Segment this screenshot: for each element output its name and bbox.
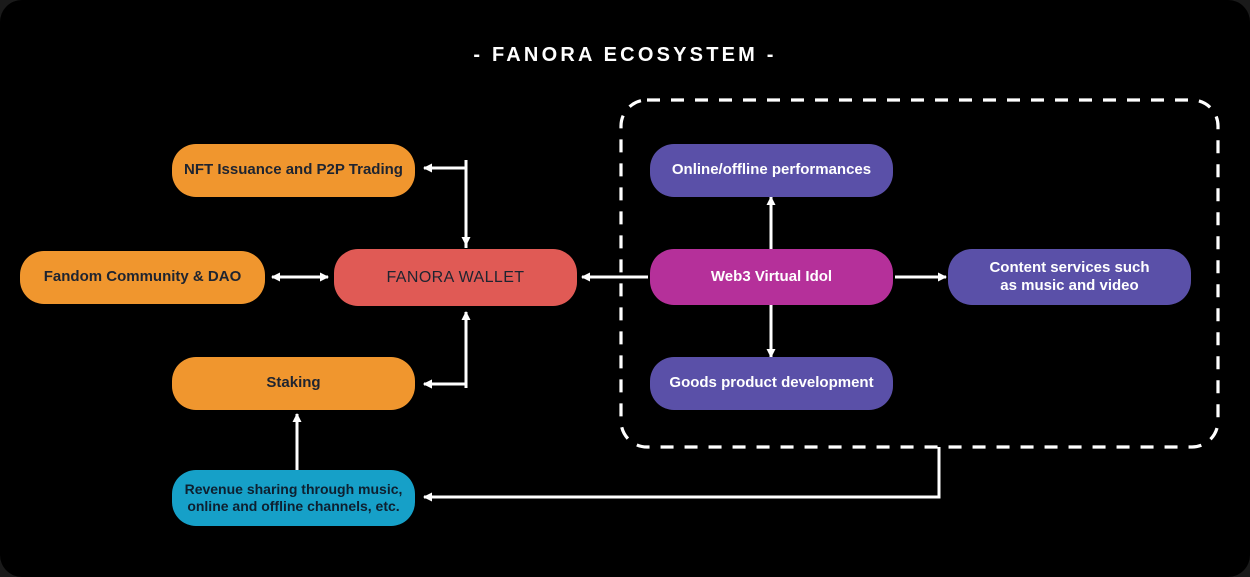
node-nft-issuance[interactable]: NFT Issuance and P2P Trading — [172, 144, 415, 197]
node-content-services-label-line1: Content services such — [989, 259, 1149, 277]
node-goods-product-development[interactable]: Goods product development — [650, 357, 893, 410]
node-fandom-community[interactable]: Fandom Community & DAO — [20, 251, 265, 304]
node-revenue-sharing-label-line1: Revenue sharing through music, — [185, 481, 403, 498]
node-content-services-label-line2: as music and video — [1000, 277, 1138, 295]
diagram-canvas: - FANORA ECOSYSTEM - — [0, 0, 1250, 577]
connector-group-to-revenue — [424, 447, 939, 497]
node-goods-product-development-label: Goods product development — [669, 374, 873, 392]
node-web3-virtual-idol-label: Web3 Virtual Idol — [711, 268, 832, 286]
node-fandom-community-label: Fandom Community & DAO — [44, 268, 242, 286]
node-revenue-sharing-label-line2: online and offline channels, etc. — [187, 498, 399, 515]
node-online-offline-performances[interactable]: Online/offline performances — [650, 144, 893, 197]
node-staking[interactable]: Staking — [172, 357, 415, 410]
node-content-services[interactable]: Content services such as music and video — [948, 249, 1191, 305]
node-staking-label: Staking — [266, 374, 320, 392]
node-web3-virtual-idol[interactable]: Web3 Virtual Idol — [650, 249, 893, 305]
page-title: - FANORA ECOSYSTEM - — [0, 44, 1250, 67]
connector-wallet-to-nft — [424, 168, 466, 248]
node-nft-issuance-label: NFT Issuance and P2P Trading — [184, 161, 403, 179]
node-online-offline-performances-label: Online/offline performances — [672, 161, 871, 179]
node-revenue-sharing[interactable]: Revenue sharing through music, online an… — [172, 470, 415, 526]
node-fanora-wallet-label: FANORA WALLET — [387, 268, 525, 288]
node-fanora-wallet[interactable]: FANORA WALLET — [334, 249, 577, 306]
